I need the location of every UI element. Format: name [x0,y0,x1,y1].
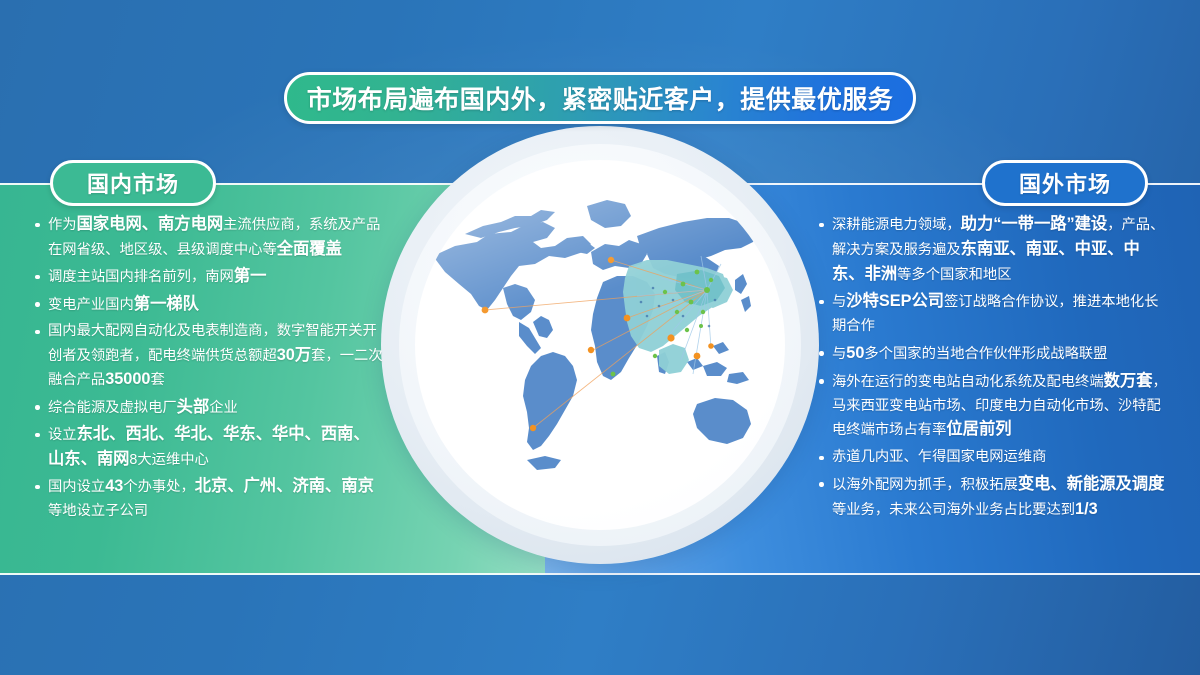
overseas-bullet-list: 深耕能源电力领域，助力“一带一路”建设，产品、解决方案及服务遍及东南亚、南亚、中… [818,213,1170,526]
body-text: 与 [832,346,846,362]
body-text: 企业 [209,400,238,416]
list-item: 变电产业国内第一梯队 [34,293,384,318]
body-text: 作为 [48,217,77,233]
body-text: 深耕能源电力领域， [832,217,961,233]
list-item: 海外在运行的变电站自动化系统及配电终端数万套，马来西亚变电站市场、印度电力自动化… [818,370,1170,443]
list-item: 调度主站国内排名前列，南网第一 [34,265,384,290]
list-item: 综合能源及虚拟电厂头部企业 [34,396,384,421]
emphasis-text: 位居前列 [946,420,1011,438]
list-item: 以海外配网为抓手，积极拓展变电、新能源及调度等业务，未来公司海外业务占比要达到1… [818,473,1170,523]
list-item: 与50多个国家的当地合作伙伴形成战略联盟 [818,342,1170,367]
body-text: 个办事处， [123,479,194,495]
emphasis-text: 北京、广州、济南、南京 [195,477,374,495]
list-item: 赤道几内亚、乍得国家电网运维商 [818,446,1170,470]
body-text: 调度主站国内排名前列，南网 [48,269,234,285]
emphasis-text: 43 [105,477,123,495]
body-text: 多个国家的当地合作伙伴形成战略联盟 [864,346,1107,362]
emphasis-text: 沙特SEP公司 [846,292,944,310]
emphasis-text: 全面覆盖 [277,240,342,258]
body-text: 海外在运行的变电站自动化系统及配电终端 [832,374,1104,390]
overseas-header-pill: 国外市场 [982,160,1148,206]
body-text: 变电产业国内 [48,297,134,313]
list-item: 设立东北、西北、华北、华东、华中、西南、山东、南网8大运维中心 [34,423,384,472]
emphasis-text: 30万 [277,346,311,364]
emphasis-text: 第一 [234,267,267,285]
emphasis-text: 35000 [105,370,150,388]
domestic-bullet-list: 作为国家电网、南方电网主流供应商，系统及产品在网省级、地区级、县级调度中心等全面… [34,213,384,526]
overseas-header-label: 国外市场 [1019,167,1111,199]
body-text: 以海外配网为抓手，积极拓展 [832,477,1018,493]
body-text: 设立 [48,427,77,443]
emphasis-text: 数万套 [1104,372,1153,390]
body-text: 等地设立子公司 [48,503,148,519]
list-item: 深耕能源电力领域，助力“一带一路”建设，产品、解决方案及服务遍及东南亚、南亚、中… [818,213,1170,287]
slide-title-pill: 市场布局遍布国内外，紧密贴近客户，提供最优服务 [284,72,916,124]
list-item: 作为国家电网、南方电网主流供应商，系统及产品在网省级、地区级、县级调度中心等全面… [34,213,384,262]
body-text: 等多个国家和地区 [897,267,1011,283]
emphasis-text: 1/3 [1075,500,1098,518]
emphasis-text: 头部 [177,398,210,416]
body-text: 套 [150,372,164,388]
body-text: 赤道几内亚、乍得国家电网运维商 [832,449,1046,465]
emphasis-text: 国家电网、南方电网 [77,215,224,233]
list-item: 国内设立43个办事处，北京、广州、济南、南京等地设立子公司 [34,475,384,523]
body-text: 8大运维中心 [129,452,208,468]
emphasis-text: 第一梯队 [134,295,199,313]
body-text: 与 [832,294,846,310]
body-text: 国内设立 [48,479,105,495]
domestic-header-pill: 国内市场 [50,160,216,206]
emphasis-text: 变电、新能源及调度 [1018,475,1165,493]
domestic-header-label: 国内市场 [87,167,179,199]
list-item: 国内最大配网自动化及电表制造商，数字智能开关开创者及领跑者，配电终端供货总额超3… [34,320,384,393]
slide-root: 市场布局遍布国内外，紧密贴近客户，提供最优服务 国内市场 国外市场 作为国家电网… [0,0,1200,675]
emphasis-text: 助力“一带一路”建设 [961,215,1108,233]
list-item: 与沙特SEP公司签订战略合作协议，推进本地化长期合作 [818,290,1170,339]
page-title: 市场布局遍布国内外，紧密贴近客户，提供最优服务 [307,80,894,116]
emphasis-text: 50 [846,344,864,362]
body-text: 综合能源及虚拟电厂 [48,400,177,416]
body-text: 等业务，未来公司海外业务占比要达到 [832,502,1075,518]
